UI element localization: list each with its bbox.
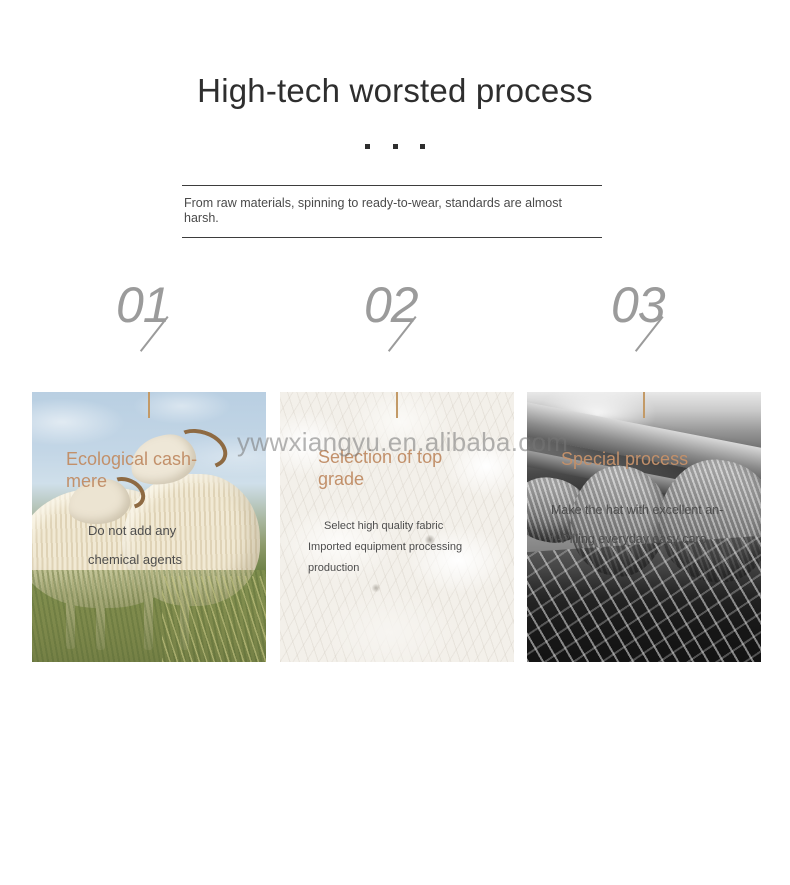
card-body: Select high quality fabric Imported equi… — [308, 516, 514, 579]
connector-tick — [643, 392, 645, 418]
process-card-2: Selection of top grade Select high quali… — [280, 392, 514, 662]
card-body-line: Make the hat with excellent an- — [551, 496, 761, 525]
card-body: Make the hat with excellent an- ti-Pilli… — [551, 496, 761, 554]
grass-blades — [162, 576, 266, 662]
card-body: Do not add any chemical agents — [88, 516, 266, 574]
card-caption-3: Special process Make the hat with excell… — [527, 448, 761, 554]
connector-tick — [396, 392, 398, 418]
card-caption-1: Ecological cash- mere Do not add any che… — [32, 448, 266, 574]
step-slash-icon — [167, 316, 201, 350]
page-header: High-tech worsted process From raw mater… — [0, 0, 790, 260]
card-title-line: mere — [66, 471, 107, 491]
card-title-line: Selection of top — [318, 447, 442, 467]
spinning-machine-bed — [527, 535, 761, 662]
card-caption-2: Selection of top grade Select high quali… — [280, 446, 514, 579]
card-title: Selection of top grade — [318, 446, 478, 490]
subtitle-box: From raw materials, spinning to ready-to… — [182, 185, 602, 238]
step-slash-icon — [415, 316, 449, 350]
step-markers: 01 02 03 — [0, 278, 790, 378]
ellipsis-dot — [420, 144, 425, 149]
card-body-line: Imported equipment processing production — [308, 537, 488, 579]
card-body-line: Select high quality fabric — [324, 516, 514, 537]
page-title: High-tech worsted process — [0, 72, 790, 110]
connector-tick — [148, 392, 150, 418]
ellipsis-dot — [365, 144, 370, 149]
step-marker-02: 02 — [280, 278, 527, 378]
step-slash-icon — [662, 316, 696, 350]
process-card-1: Ecological cash- mere Do not add any che… — [32, 392, 266, 662]
card-title: Ecological cash- mere — [66, 448, 242, 492]
card-title-line: Ecological cash- — [66, 449, 197, 469]
card-body-line: ti-Pilling everyday easy care — [551, 525, 761, 554]
subtitle-text: From raw materials, spinning to ready-to… — [184, 196, 600, 226]
process-card-3: Special process Make the hat with excell… — [527, 392, 761, 662]
card-body-line: chemical agents — [88, 545, 266, 574]
step-marker-03: 03 — [527, 278, 774, 378]
card-title: Special process — [561, 448, 761, 470]
process-cards: Ecological cash- mere Do not add any che… — [0, 392, 790, 885]
card-body-line: Do not add any — [88, 516, 266, 545]
ellipsis-divider — [0, 138, 790, 162]
card-title-line: grade — [318, 469, 364, 489]
step-marker-01: 01 — [32, 278, 279, 378]
ellipsis-dot — [393, 144, 398, 149]
